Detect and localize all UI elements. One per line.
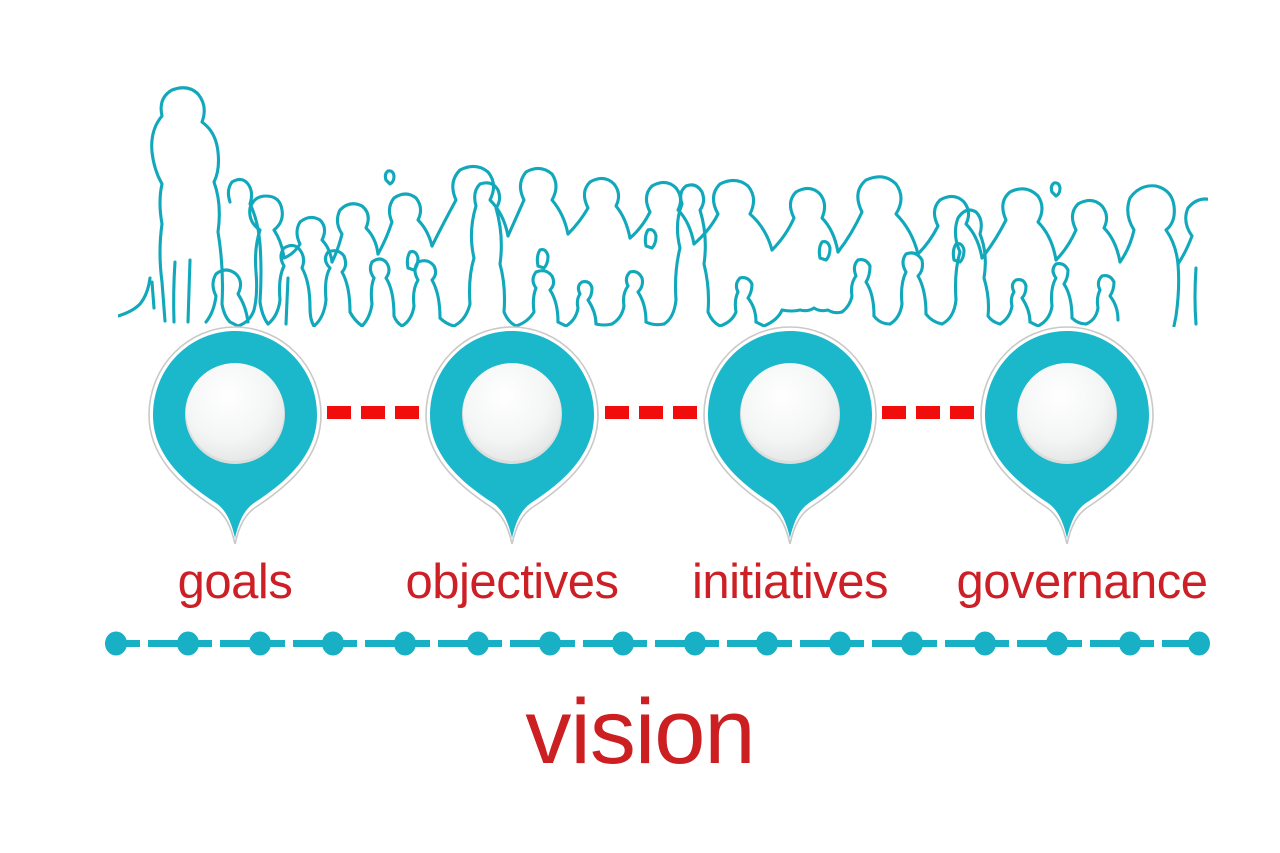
map-pin-icon-objectives[interactable] xyxy=(412,318,612,553)
connector-dashes-2 xyxy=(605,318,697,553)
infographic-canvas: goals objectives initiatives governance xyxy=(0,0,1280,853)
crowd-of-people-outline-icon xyxy=(118,72,1208,327)
pin-row xyxy=(0,318,1280,558)
page-title: vision xyxy=(0,676,1280,788)
pin-label-initiatives: initiatives xyxy=(682,549,898,615)
connector-dashes-1 xyxy=(327,318,419,553)
pin-label-row: goals objectives initiatives governance xyxy=(0,549,1280,621)
pin-label-objectives: objectives xyxy=(402,549,622,615)
map-pin-icon-initiatives[interactable] xyxy=(690,318,890,553)
connector-dashes-3 xyxy=(882,318,974,553)
pin-label-governance: governance xyxy=(952,549,1212,615)
pin-label-goals: goals xyxy=(135,549,335,615)
dotted-progress-line xyxy=(100,628,1215,660)
map-pin-icon-governance[interactable] xyxy=(967,318,1167,553)
map-pin-icon-goals[interactable] xyxy=(135,318,335,553)
